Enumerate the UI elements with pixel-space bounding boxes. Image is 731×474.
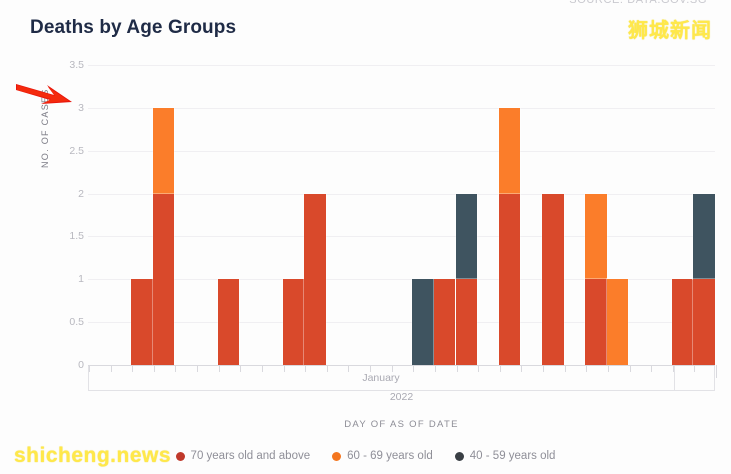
bar-segment[interactable] <box>434 279 455 365</box>
bar-column[interactable] <box>585 65 606 365</box>
bar-column[interactable] <box>304 65 325 365</box>
chart-root: SOURCE: DATA.GOV.SG Deaths by Age Groups… <box>0 0 731 474</box>
bar-segment[interactable] <box>585 194 606 280</box>
legend-item[interactable]: 40 - 59 years old <box>455 450 556 462</box>
bar-segment[interactable] <box>283 279 304 365</box>
y-tick-label: 2.5 <box>50 145 84 157</box>
bar-segment[interactable] <box>153 108 174 194</box>
year-label: 2022 <box>88 391 715 403</box>
bar-segment[interactable] <box>542 194 563 365</box>
bar-segment[interactable] <box>607 279 628 365</box>
bar-segment[interactable] <box>218 279 239 365</box>
bar-column[interactable] <box>434 65 455 365</box>
y-axis-ticks: 00.511.522.533.5 <box>50 0 84 474</box>
legend-item[interactable]: 60 - 69 years old <box>332 450 433 462</box>
bar-segment[interactable] <box>672 279 693 365</box>
legend-item[interactable]: 70 years old and above <box>176 450 311 462</box>
month-band: January <box>88 366 715 391</box>
bar-column[interactable] <box>131 65 152 365</box>
bar-segment[interactable] <box>456 194 477 280</box>
x-tickmark <box>716 365 717 372</box>
bar-segment[interactable] <box>693 194 714 280</box>
bar-column[interactable] <box>499 65 520 365</box>
bar-segment[interactable] <box>456 279 477 365</box>
y-tick-label: 0.5 <box>50 316 84 328</box>
month-label: January <box>88 372 674 384</box>
plot-area <box>88 65 715 365</box>
legend-label: 60 - 69 years old <box>347 450 433 462</box>
bar-column[interactable] <box>218 65 239 365</box>
bar-segment[interactable] <box>499 194 520 365</box>
bar-segment[interactable] <box>585 279 606 365</box>
bar-segment[interactable] <box>693 279 714 365</box>
y-tick-label: 1 <box>50 273 84 285</box>
red-arrow-icon <box>14 78 76 110</box>
x-axis-title: DAY OF AS OF DATE <box>88 419 715 430</box>
legend-dot-icon <box>455 452 464 461</box>
y-tick-label: 1.5 <box>50 230 84 242</box>
bar-column[interactable] <box>542 65 563 365</box>
chart-legend: 70 years old and above60 - 69 years old4… <box>0 450 731 462</box>
bar-segment[interactable] <box>153 194 174 365</box>
bar-segment[interactable] <box>131 279 152 365</box>
bar-segment[interactable] <box>412 279 433 365</box>
y-tick-label: 3.5 <box>50 59 84 71</box>
y-tick-label: 2 <box>50 188 84 200</box>
bar-column[interactable] <box>693 65 714 365</box>
bar-column[interactable] <box>153 65 174 365</box>
bar-segment[interactable] <box>304 194 325 365</box>
bar-column[interactable] <box>607 65 628 365</box>
bar-column[interactable] <box>456 65 477 365</box>
bar-column[interactable] <box>672 65 693 365</box>
bar-segment[interactable] <box>499 108 520 194</box>
legend-label: 70 years old and above <box>191 450 311 462</box>
y-tick-label: 0 <box>50 359 84 371</box>
legend-dot-icon <box>176 452 185 461</box>
legend-label: 40 - 59 years old <box>470 450 556 462</box>
bar-column[interactable] <box>412 65 433 365</box>
legend-dot-icon <box>332 452 341 461</box>
plot-wrapper: NO. OF CASES 00.511.522.533.5 January 20… <box>0 0 731 474</box>
bar-column[interactable] <box>283 65 304 365</box>
